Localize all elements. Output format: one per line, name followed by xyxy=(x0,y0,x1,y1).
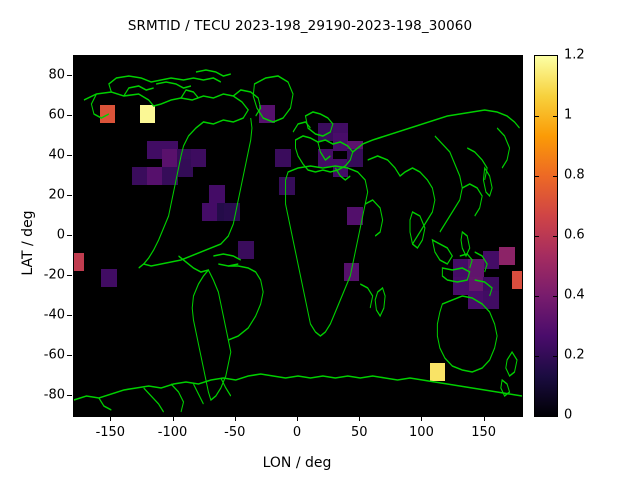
heatmap-cell xyxy=(468,291,484,309)
heatmap-cell xyxy=(147,141,163,159)
colorbar-tick-mark xyxy=(535,176,539,177)
heatmap-cell xyxy=(347,149,363,167)
colorbar-tick-mark xyxy=(535,236,539,237)
x-tick-mark xyxy=(421,416,422,421)
heatmap-cell xyxy=(147,167,163,185)
y-tick-label: -40 xyxy=(27,308,65,323)
heatmap-cell xyxy=(453,277,469,295)
colorbar-tick-mark xyxy=(535,116,539,117)
y-tick-mark xyxy=(67,75,72,76)
heatmap-cell xyxy=(512,271,522,289)
map-inner xyxy=(74,56,522,416)
y-tick-mark xyxy=(67,315,72,316)
x-tick-label: 0 xyxy=(293,425,301,440)
page-title: SRMTID / TECU 2023-198_29190-2023-198_30… xyxy=(0,18,600,34)
y-tick-label: 40 xyxy=(27,148,65,163)
heatmap-cell xyxy=(140,105,156,123)
heatmap-cell xyxy=(101,269,117,287)
colorbar-tick-label: 0.4 xyxy=(564,288,585,303)
colorbar-tick-mark xyxy=(553,176,557,177)
colorbar-tick-mark xyxy=(553,296,557,297)
colorbar-tick-mark xyxy=(535,356,539,357)
y-tick-label: 20 xyxy=(27,188,65,203)
x-axis-label: LON / deg xyxy=(73,455,521,471)
y-tick-mark xyxy=(67,115,72,116)
colorbar-tick-mark xyxy=(553,116,557,117)
heatmap-cell xyxy=(499,247,515,265)
heatmap-cell xyxy=(259,105,275,123)
heatmap-cell xyxy=(162,167,178,185)
x-tick-label: 100 xyxy=(409,425,434,440)
x-tick-mark xyxy=(173,416,174,421)
heatmap-cell xyxy=(333,159,349,177)
y-tick-mark xyxy=(67,355,72,356)
colorbar[interactable] xyxy=(534,55,558,417)
heatmap-cell xyxy=(238,241,254,259)
colorbar-tick-label: 0.2 xyxy=(564,348,585,363)
x-tick-label: -150 xyxy=(96,425,126,440)
x-tick-label: -100 xyxy=(158,425,188,440)
heatmap-cell xyxy=(74,253,84,271)
figure-canvas: SRMTID / TECU 2023-198_29190-2023-198_30… xyxy=(0,0,640,480)
heatmap-cell-layer xyxy=(74,56,522,416)
heatmap-cell xyxy=(318,149,334,167)
colorbar-tick-label: 0.8 xyxy=(564,168,585,183)
y-tick-label: -60 xyxy=(27,348,65,363)
y-tick-label: 0 xyxy=(27,228,65,243)
x-tick-mark xyxy=(110,416,111,421)
heatmap-cell xyxy=(279,177,295,195)
colorbar-tick-label: 0.6 xyxy=(564,228,585,243)
y-tick-label: -20 xyxy=(27,268,65,283)
heatmap-cell xyxy=(318,123,334,141)
y-tick-mark xyxy=(67,395,72,396)
x-tick-mark xyxy=(359,416,360,421)
colorbar-tick-mark xyxy=(553,356,557,357)
y-tick-mark xyxy=(67,235,72,236)
colorbar-tick-mark xyxy=(553,236,557,237)
x-tick-mark xyxy=(484,416,485,421)
heatmap-cell xyxy=(209,185,225,203)
heatmap-cell xyxy=(483,291,499,309)
y-tick-mark xyxy=(67,195,72,196)
y-tick-label: -80 xyxy=(27,388,65,403)
heatmap-cell xyxy=(333,133,349,151)
colorbar-tick-label: 0 xyxy=(564,408,572,423)
map-plot-area[interactable] xyxy=(73,55,523,417)
y-tick-mark xyxy=(67,275,72,276)
colorbar-tick-mark xyxy=(535,296,539,297)
heatmap-cell xyxy=(483,251,499,269)
heatmap-cell xyxy=(224,203,240,221)
heatmap-cell xyxy=(453,259,469,277)
heatmap-cell xyxy=(344,263,360,281)
heatmap-cell xyxy=(132,167,148,185)
colorbar-tick-label: 1.2 xyxy=(564,48,585,63)
x-tick-mark xyxy=(235,416,236,421)
x-tick-label: 150 xyxy=(471,425,496,440)
heatmap-cell xyxy=(430,363,446,381)
heatmap-cell xyxy=(468,259,484,277)
heatmap-cell xyxy=(191,149,207,167)
heatmap-cell xyxy=(162,149,178,167)
x-tick-label: 50 xyxy=(351,425,368,440)
x-tick-label: -50 xyxy=(224,425,245,440)
x-tick-mark xyxy=(297,416,298,421)
heatmap-cell xyxy=(202,203,218,221)
heatmap-cell xyxy=(347,207,363,225)
heatmap-cell xyxy=(275,149,291,167)
y-tick-mark xyxy=(67,155,72,156)
y-tick-label: 80 xyxy=(27,68,65,83)
y-tick-label: 60 xyxy=(27,108,65,123)
colorbar-tick-label: 1 xyxy=(564,108,572,123)
heatmap-cell xyxy=(100,105,116,123)
